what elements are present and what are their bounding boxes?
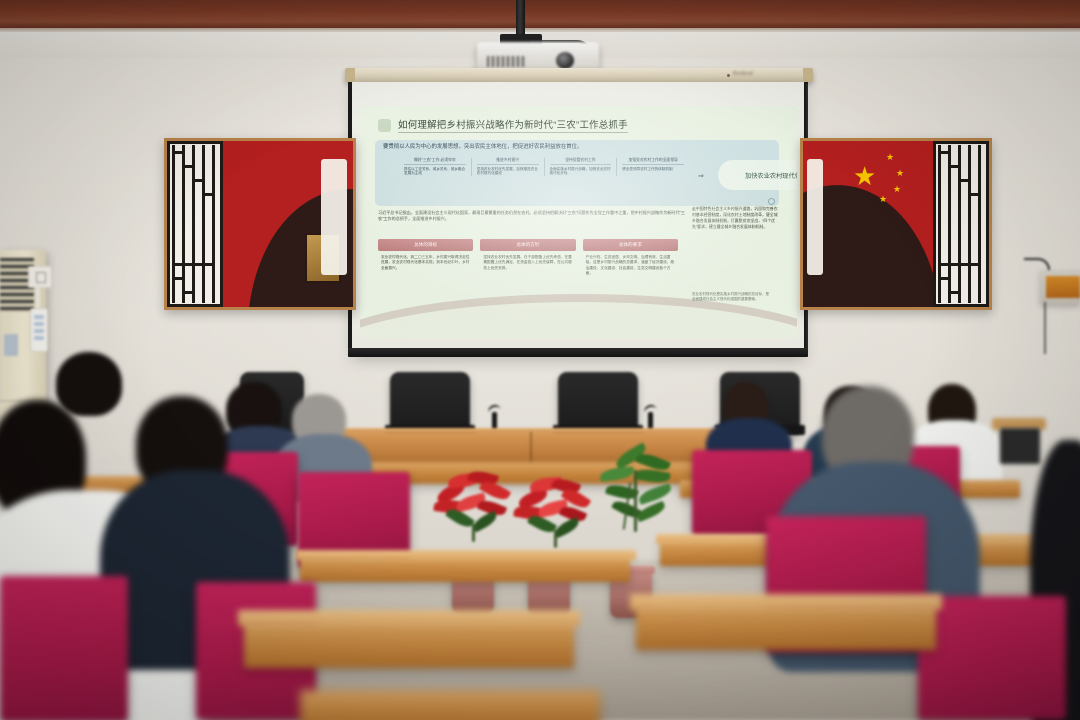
slide-paragraph: 习近平总书记指出，全面建设社会主义现代化国家，最艰巨最繁重的任务仍然在农村。必须… [378, 210, 688, 222]
slide-card-header-label: 总体的方针 [517, 242, 540, 248]
projected-slide: 如何理解把乡村振兴战略作为新时代“三农”工作总抓手 要贯彻以人民为中心的发展思想… [360, 106, 797, 338]
poinsettia-left [432, 470, 522, 550]
wall-decor-left [164, 138, 356, 310]
screen-casing-cap-left [345, 68, 355, 82]
flag-small-star-icon: ★ [896, 169, 904, 178]
slide-result-pill: 加快农业农村现代化 [718, 160, 797, 190]
band-column-head: 加强党对农村工作的全面领导 [622, 158, 684, 165]
wooden-chair-seat[interactable] [1000, 428, 1040, 464]
audience-chair[interactable] [0, 576, 128, 720]
slide-card-body: 产业兴旺、生态宜居、乡风文明、治理有效、生活富裕。这是乡村振兴战略的总要求，涵盖… [583, 255, 678, 276]
slide-title-marker-icon [378, 119, 391, 132]
speaker-cable [1044, 302, 1046, 354]
slide-title-row: 如何理解把乡村振兴战略作为新时代“三农”工作总抓手 [378, 114, 778, 136]
slide-band-columns: 做好"三农"工作 必须牢牢 抓住以工农关系、城乡关系、城乡融合发展为主线 推进乡… [399, 158, 689, 176]
band-column: 坚持党管农村工作 全面实施乡村振兴战略，加快农业农村现代化步伐 [545, 158, 618, 176]
slide-decoration-dot-icon [768, 198, 775, 205]
slide-result-label: 加快农业农村现代化 [745, 171, 797, 180]
screen-brand-dot [727, 74, 730, 77]
conference-room-photo: Redleaf 如何理解把乡村振兴战略作为新时代“三农”工作总抓手 要贯彻以人民… [0, 0, 1080, 720]
slide-card: 总体的目标 农业农村现代化。到二〇三五年，乡村振兴取得决定性进展，农业农村现代化… [378, 239, 473, 276]
bench-desk [244, 620, 574, 668]
bench-desk-top [296, 550, 636, 560]
band-column-head: 坚持党管农村工作 [550, 158, 612, 165]
poinsettia-center [512, 474, 602, 554]
slide-side-column-secondary: 农业农村现代化是实施乡村振兴战略的总目标，是全面建成社会主义现代化强国的重要基础… [692, 292, 772, 303]
band-column-body: 健全党领导农村工作的体制机制 [622, 167, 672, 171]
speaker-face [1046, 276, 1080, 298]
flag-large-star-icon: ★ [853, 163, 876, 189]
band-column: 加强党对农村工作的全面领导 健全党领导农村工作的体制机制 [617, 158, 689, 176]
slide-card-header: 总体的要求 [583, 239, 678, 251]
slide-card-body: 农业农村现代化。到二〇三五年，乡村振兴取得决定性进展，农业农村现代化基本实现；到… [378, 255, 473, 271]
band-column-body: 全面实施乡村振兴战略，加快农业农村现代化步伐 [550, 167, 611, 176]
band-column-head: 做好"三农"工作 必须牢牢 [404, 158, 466, 165]
band-column: 做好"三农"工作 必须牢牢 抓住以工农关系、城乡关系、城乡融合发展为主线 [399, 158, 472, 176]
band-column-body: 坚持农业农村优先发展，加快推进农业农村现代化建设 [477, 167, 538, 176]
flag-small-star-icon: ★ [879, 195, 887, 204]
audience-chair[interactable] [918, 596, 1066, 720]
ceiling-beam [0, 0, 1080, 30]
slide-highlight-band: 要贯彻以人民为中心的发展思想，突出农民主体地位，把促进好农民利益放在首位。 做好… [375, 140, 779, 206]
slide-card-header: 总体的目标 [378, 239, 473, 251]
flag-small-star-icon: ★ [886, 153, 894, 162]
band-column-body: 抓住以工农关系、城乡关系、城乡融合发展为主线 [404, 167, 465, 176]
slide-card-header-label: 总体的要求 [619, 242, 642, 248]
slide-lead-text: 要贯彻以人民为中心的发展思想，突出农民主体地位，把促进好农民利益放在首位。 [383, 144, 769, 151]
white-text-card [807, 159, 823, 275]
slide-arrow-icon: ⇒ [698, 172, 702, 180]
slide-card-body: 坚持农业农村优先发展。在干部配备上优先考虑，在要素配置上优先满足，在资金投入上优… [480, 255, 575, 271]
projector-vent [487, 56, 525, 67]
bench-desk [300, 690, 600, 720]
chinese-flag-artwork: ★ ★ ★ ★ ★ [803, 141, 933, 307]
screen-brand-label: Redleaf [733, 71, 753, 77]
ac-control-panel[interactable] [4, 334, 18, 356]
band-column: 推进乡村振兴 坚持农业农村优先发展，加快推进农业农村现代化建设 [472, 158, 545, 176]
bench-desk-top [238, 610, 580, 626]
band-column-head: 推进乡村振兴 [477, 158, 539, 165]
bench-desk-top [630, 594, 942, 610]
lattice-panel-left [167, 141, 223, 307]
projector-lens [556, 52, 574, 69]
bench-desk [636, 604, 936, 650]
screen-casing-cap-right [803, 68, 813, 82]
slide-title: 如何理解把乡村振兴战略作为新时代“三农”工作总抓手 [398, 117, 628, 133]
person-head [56, 352, 122, 416]
ac-remote-control[interactable] [30, 308, 48, 352]
wall-decor-right: ★ ★ ★ ★ ★ [800, 138, 992, 310]
slide-cards: 总体的目标 农业农村现代化。到二〇三五年，乡村振兴取得决定性进展，农业农村现代化… [378, 239, 678, 276]
slide-card-header: 总体的方针 [480, 239, 575, 251]
flag-small-star-icon: ★ [893, 185, 901, 194]
remote-wall-holder [28, 266, 52, 288]
slide-card: 总体的方针 坚持农业农村优先发展。在干部配备上优先考虑，在要素配置上优先满足，在… [480, 239, 575, 276]
slide-card-header-label: 总体的目标 [414, 242, 437, 248]
remote-cord [36, 286, 40, 310]
lattice-panel-right [933, 141, 989, 307]
white-text-card [321, 159, 347, 275]
flag-artwork-left [223, 141, 353, 307]
slide-side-column: 走中国特色社会主义乡村振兴道路，巩固和完善农村基本经营制度，深化农村土地制度改革… [692, 206, 778, 229]
screen-bottom-bar [348, 348, 808, 357]
slide-card: 总体的要求 产业兴旺、生态宜居、乡风文明、治理有效、生活富裕。这是乡村振兴战略的… [583, 239, 678, 276]
